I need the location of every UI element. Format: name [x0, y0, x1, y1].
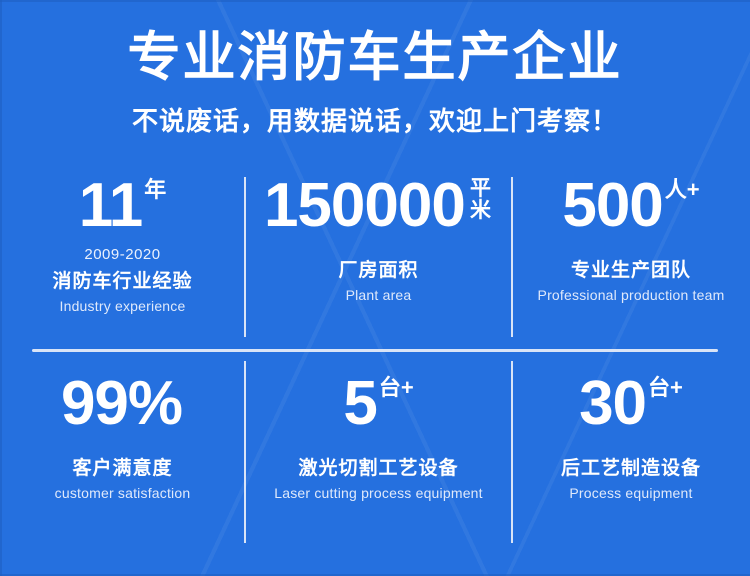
stat-label-cn: 激光切割工艺设备 — [245, 457, 512, 481]
stat-label-en: Process equipment — [512, 484, 750, 502]
stat-number: 500 — [562, 175, 662, 237]
stat-unit: 人+ — [665, 179, 700, 201]
stat-label-en: customer satisfaction — [0, 484, 245, 502]
stat-label-en: Plant area — [245, 286, 512, 304]
stat-value-line: 150000 平米 — [245, 175, 512, 237]
page-title: 专业消防车生产企业 — [0, 27, 750, 89]
banner-header: 专业消防车生产企业 不说废话，用数据说话，欢迎上门考察！ — [0, 0, 750, 137]
page-subtitle: 不说废话，用数据说话，欢迎上门考察！ — [0, 105, 750, 137]
stat-label-cn: 后工艺制造设备 — [512, 457, 750, 481]
stat-number: 5 — [343, 373, 376, 435]
stat-label-cn: 消防车行业经验 — [0, 270, 245, 294]
stat-cell-process-equipment: 30 台+ 后工艺制造设备 Process equipment — [512, 363, 750, 502]
stat-number: 11 — [79, 175, 143, 237]
stat-cell-industry-experience: 11 年 2009-2020 消防车行业经验 Industry experien… — [0, 165, 245, 315]
stat-label-en: Professional production team — [512, 286, 750, 304]
stat-label-en: Laser cutting process equipment — [245, 484, 512, 502]
stat-range: 2009-2020 — [0, 246, 245, 264]
stats-row-top: 11 年 2009-2020 消防车行业经验 Industry experien… — [0, 165, 750, 337]
stat-value-line: 30 台+ — [512, 373, 750, 435]
stat-unit: 平米 — [468, 178, 493, 222]
stat-number: 30 — [579, 373, 646, 435]
stats-row-bottom: 99% 客户满意度 customer satisfaction 5 台+ 激光切… — [0, 363, 750, 535]
stat-label-cn: 专业生产团队 — [512, 259, 750, 283]
stat-label-cn: 客户满意度 — [0, 457, 245, 481]
stat-label-en: Industry experience — [0, 297, 245, 315]
stat-unit: 台+ — [648, 377, 683, 399]
stat-label-cn: 厂房面积 — [245, 259, 512, 283]
promo-banner: 专业消防车生产企业 不说废话，用数据说话，欢迎上门考察！ 11 年 2009-2… — [0, 0, 750, 576]
stat-cell-laser-cutting-equipment: 5 台+ 激光切割工艺设备 Laser cutting process equi… — [245, 363, 512, 502]
stat-value-line: 99% — [0, 373, 245, 435]
stat-cell-customer-satisfaction: 99% 客户满意度 customer satisfaction — [0, 363, 245, 502]
stat-unit: 年 — [144, 179, 166, 201]
divider-horizontal — [32, 349, 718, 352]
stat-number: 150000 — [264, 175, 465, 237]
stats-grid: 11 年 2009-2020 消防车行业经验 Industry experien… — [0, 165, 750, 537]
stat-value-line: 11 年 — [0, 175, 245, 237]
stat-value-line: 500 人+ — [512, 175, 750, 237]
stat-cell-plant-area: 150000 平米 厂房面积 Plant area — [245, 165, 512, 304]
stat-number: 99% — [61, 373, 182, 435]
stat-unit: 台+ — [379, 377, 414, 399]
stat-cell-production-team: 500 人+ 专业生产团队 Professional production te… — [512, 165, 750, 304]
stat-value-line: 5 台+ — [245, 373, 512, 435]
